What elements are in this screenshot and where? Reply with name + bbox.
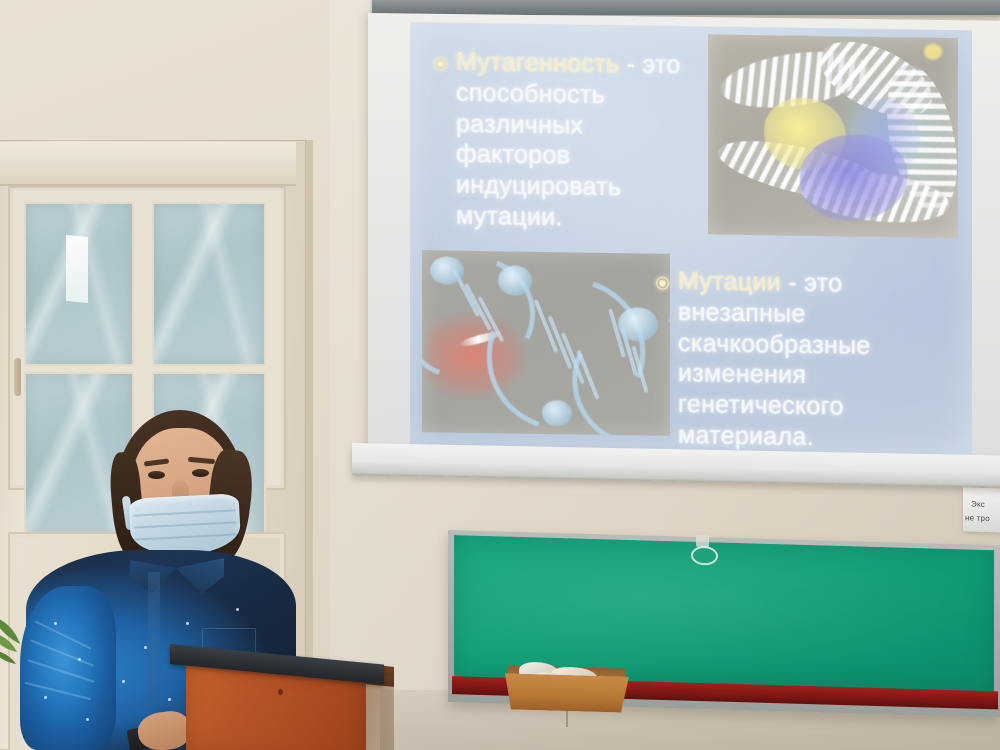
- bullet-1-line: факторов: [456, 139, 702, 173]
- bullet-2-line: внезапные: [678, 297, 961, 332]
- wall-notice-sign: Экс не тро: [963, 487, 1000, 533]
- mask-pleat: [134, 521, 236, 528]
- bullet-1-line: способность: [456, 77, 702, 111]
- chromosome-micrograph-image: [708, 34, 958, 238]
- glass-film: [154, 204, 264, 364]
- door-handle[interactable]: [14, 358, 21, 396]
- bullet-2-line: генетического: [678, 389, 961, 424]
- chromosome-yellow-spot: [924, 44, 942, 60]
- dna-backbone-knob: [498, 265, 532, 296]
- shirt-sleeve: [20, 586, 116, 750]
- ring-bullet-icon: [656, 277, 669, 290]
- bullet-2-line: изменения: [678, 358, 961, 393]
- tray-nail: [566, 709, 568, 727]
- bullet-2-dash: -: [788, 269, 797, 297]
- sign-line-2: не тро: [965, 513, 990, 523]
- bullet-2-lead: Мутации: [678, 267, 781, 297]
- dna-backbone-knob: [618, 307, 658, 342]
- door-glass-pane: [152, 202, 266, 366]
- bullet-2-first-rest: это: [804, 269, 842, 298]
- dna-helix-image: [422, 250, 670, 436]
- door-glass-pane: [24, 202, 134, 366]
- mask-pleat: [133, 509, 235, 516]
- slide-bullet-2: Мутации - это внезапные скачкообразные и…: [656, 266, 961, 455]
- glass-film-highlight: [66, 235, 88, 303]
- eye: [148, 471, 165, 479]
- wood-knot: [278, 689, 283, 695]
- bullet-1-line: мутации.: [456, 200, 702, 234]
- ring-bullet-icon: [434, 57, 447, 70]
- tray-front-panel: [505, 673, 629, 712]
- bullet-1-lead: Мутагенность: [456, 48, 619, 78]
- lectern-side-panel: [366, 674, 394, 750]
- sign-line-1: Экс: [971, 499, 985, 508]
- screen-roller-housing: [372, 0, 1000, 15]
- wooden-lectern: [170, 644, 400, 750]
- bullet-1-line: различных: [456, 108, 702, 142]
- door-header-rail: [0, 142, 296, 186]
- bullet-1-line: индуцировать: [456, 170, 702, 204]
- slide-bullet-1: Мутагенность - это способность различных…: [434, 46, 702, 234]
- bullet-1-first-rest: это: [642, 50, 680, 79]
- bullet-1-dash: -: [627, 50, 636, 78]
- hanging-ring-icon: [691, 546, 718, 566]
- bullet-2-line: скачкообразные: [678, 327, 961, 362]
- dna-backbone-knob: [430, 256, 464, 285]
- eye: [192, 469, 209, 477]
- mask-pleat: [135, 533, 237, 540]
- wooden-chalk-tray: [505, 661, 629, 712]
- projected-slide: Мутагенность - это способность различных…: [410, 22, 972, 458]
- dna-backbone-knob: [542, 400, 572, 426]
- classroom-photo: Экс не тро: [0, 0, 1000, 750]
